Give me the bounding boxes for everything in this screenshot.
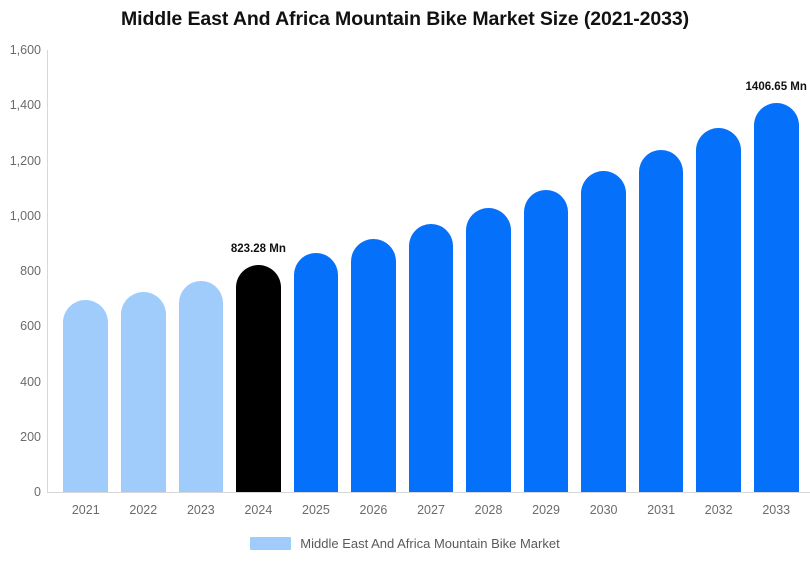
- bar-value-label-2033: 1406.65 Mn: [746, 81, 807, 93]
- bar-2028[interactable]: [466, 208, 511, 492]
- x-axis-tick-labels: 2021202220232024202520262027202820292030…: [47, 503, 810, 523]
- y-tick-label: 600: [0, 319, 41, 333]
- bar-2033[interactable]: [754, 103, 799, 492]
- x-tick-label-2029: 2029: [532, 503, 560, 517]
- bar-2029[interactable]: [524, 190, 569, 492]
- bar-2031[interactable]: [639, 150, 684, 492]
- x-tick-label-2027: 2027: [417, 503, 445, 517]
- y-tick-label: 800: [0, 264, 41, 278]
- legend-label-market: Middle East And Africa Mountain Bike Mar…: [300, 536, 559, 551]
- y-tick-label: 1,000: [0, 209, 41, 223]
- plot-area: 823.28 Mn1406.65 Mn: [47, 50, 810, 492]
- bar-2024[interactable]: [236, 265, 281, 492]
- chart-title: Middle East And Africa Mountain Bike Mar…: [0, 8, 810, 31]
- bar-2021[interactable]: [63, 300, 108, 492]
- bar-2023[interactable]: [179, 281, 224, 492]
- y-axis-line: [47, 50, 48, 492]
- chart-legend: Middle East And Africa Mountain Bike Mar…: [0, 536, 810, 551]
- x-tick-label-2023: 2023: [187, 503, 215, 517]
- y-axis-tick-labels: 02004006008001,0001,2001,4001,600: [0, 50, 41, 492]
- x-tick-label-2026: 2026: [360, 503, 388, 517]
- y-tick-label: 0: [0, 485, 41, 499]
- x-tick-label-2033: 2033: [762, 503, 790, 517]
- x-tick-label-2024: 2024: [244, 503, 272, 517]
- bar-2022[interactable]: [121, 292, 166, 492]
- x-tick-label-2030: 2030: [590, 503, 618, 517]
- x-axis-line: [47, 492, 810, 493]
- x-tick-label-2032: 2032: [705, 503, 733, 517]
- y-tick-label: 400: [0, 375, 41, 389]
- x-tick-label-2022: 2022: [129, 503, 157, 517]
- bar-2026[interactable]: [351, 239, 396, 492]
- bar-2027[interactable]: [409, 224, 454, 492]
- bar-value-label-2024: 823.28 Mn: [231, 243, 286, 255]
- legend-swatch-market: [250, 537, 291, 550]
- bar-chart: Middle East And Africa Mountain Bike Mar…: [0, 0, 810, 562]
- bar-2025[interactable]: [294, 253, 339, 492]
- bar-2030[interactable]: [581, 171, 626, 492]
- bar-2032[interactable]: [696, 128, 741, 492]
- x-tick-label-2021: 2021: [72, 503, 100, 517]
- y-tick-label: 1,600: [0, 43, 41, 57]
- y-tick-label: 1,400: [0, 98, 41, 112]
- y-tick-label: 1,200: [0, 154, 41, 168]
- x-tick-label-2031: 2031: [647, 503, 675, 517]
- x-tick-label-2028: 2028: [475, 503, 503, 517]
- y-tick-label: 200: [0, 430, 41, 444]
- x-tick-label-2025: 2025: [302, 503, 330, 517]
